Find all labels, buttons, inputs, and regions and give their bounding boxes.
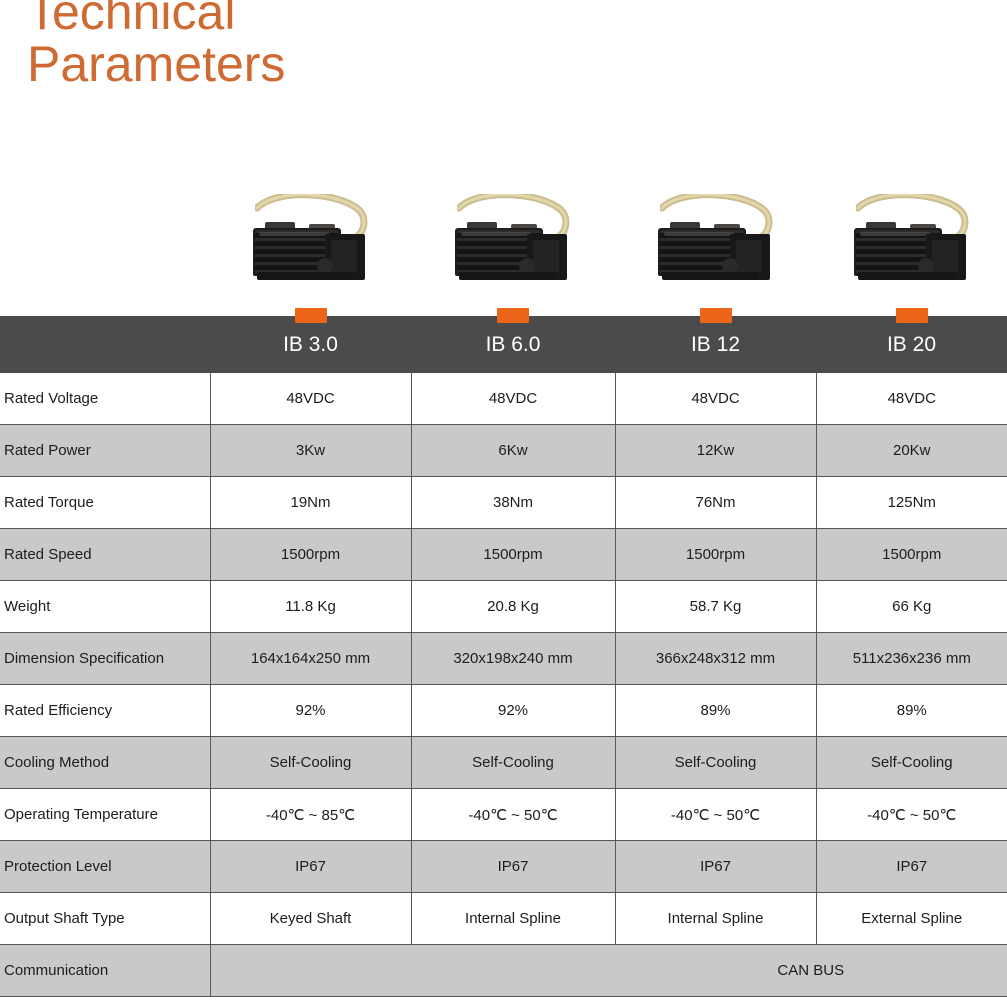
cell-value: 1500rpm xyxy=(411,529,615,581)
cell-value: 48VDC xyxy=(411,373,615,425)
cell-value: Self-Cooling xyxy=(615,737,816,789)
cell-value: 1500rpm xyxy=(615,529,816,581)
column-tab-marker-icon xyxy=(295,308,327,323)
product-image-ib-3-0 xyxy=(210,160,411,300)
table-row: Weight 11.8 Kg 20.8 Kg 58.7 Kg 66 Kg xyxy=(0,581,1007,633)
electric-motor-icon xyxy=(848,194,976,294)
motor-foot xyxy=(662,272,758,280)
cell-value: IP67 xyxy=(210,841,411,893)
cell-value: IP67 xyxy=(411,841,615,893)
table-row: Output Shaft Type Keyed Shaft Internal S… xyxy=(0,893,1007,945)
electric-motor-icon xyxy=(449,194,577,294)
communication-value: CAN BUS xyxy=(212,962,1007,979)
cell-value: Keyed Shaft xyxy=(210,893,411,945)
cell-value: 3Kw xyxy=(210,425,411,477)
cell-value: 20.8 Kg xyxy=(411,581,615,633)
cell-value: Self-Cooling xyxy=(816,737,1007,789)
cell-value: 12Kw xyxy=(615,425,816,477)
column-header-ib-6-0: IB 6.0 xyxy=(411,316,615,373)
column-tab-marker-icon xyxy=(497,308,529,323)
cell-value: 76Nm xyxy=(615,477,816,529)
cell-value: -40℃ ~ 85℃ xyxy=(210,789,411,841)
cell-value: -40℃ ~ 50℃ xyxy=(615,789,816,841)
cell-value: 20Kw xyxy=(816,425,1007,477)
motor-highlight xyxy=(860,232,930,236)
cell-value: Self-Cooling xyxy=(411,737,615,789)
table-header: IB 3.0 IB 6.0 IB 12 IB 20 xyxy=(0,316,1007,373)
product-image-ib-20 xyxy=(816,160,1007,300)
cell-value: 48VDC xyxy=(615,373,816,425)
table-body: Rated Voltage 48VDC 48VDC 48VDC 48VDC Ra… xyxy=(0,373,1007,997)
motor-highlight xyxy=(461,232,531,236)
cell-value: IP67 xyxy=(816,841,1007,893)
cell-value-merged: CAN BUS xyxy=(210,945,1007,997)
cell-value: 19Nm xyxy=(210,477,411,529)
table-row: Rated Voltage 48VDC 48VDC 48VDC 48VDC xyxy=(0,373,1007,425)
cell-value: -40℃ ~ 50℃ xyxy=(816,789,1007,841)
cell-value: 48VDC xyxy=(816,373,1007,425)
table-row: Rated Efficiency 92% 92% 89% 89% xyxy=(0,685,1007,737)
cell-value: 89% xyxy=(816,685,1007,737)
cell-value: 164x164x250 mm xyxy=(210,633,411,685)
cell-value: 11.8 Kg xyxy=(210,581,411,633)
table-corner-cell xyxy=(0,316,210,373)
column-header-label: IB 12 xyxy=(691,333,740,356)
cell-value: 1500rpm xyxy=(816,529,1007,581)
motor-highlight xyxy=(664,232,734,236)
column-header-ib-12: IB 12 xyxy=(615,316,816,373)
table-header-row: IB 3.0 IB 6.0 IB 12 IB 20 xyxy=(0,316,1007,373)
cell-value: 92% xyxy=(210,685,411,737)
page-title: Technical Parameters xyxy=(27,0,587,90)
table-row: Protection Level IP67 IP67 IP67 IP67 xyxy=(0,841,1007,893)
row-label: Operating Temperature xyxy=(0,789,210,841)
motor-gearbox-face xyxy=(331,240,357,272)
product-image-ib-12 xyxy=(615,160,816,300)
motor-gearbox-face xyxy=(533,240,559,272)
cell-value: 38Nm xyxy=(411,477,615,529)
table-row: Rated Power 3Kw 6Kw 12Kw 20Kw xyxy=(0,425,1007,477)
table-row: Rated Speed 1500rpm 1500rpm 1500rpm 1500… xyxy=(0,529,1007,581)
column-header-ib-20: IB 20 xyxy=(816,316,1007,373)
row-label: Cooling Method xyxy=(0,737,210,789)
row-label: Rated Torque xyxy=(0,477,210,529)
motor-foot xyxy=(459,272,555,280)
column-tab-marker-icon xyxy=(700,308,732,323)
table-row: Cooling Method Self-Cooling Self-Cooling… xyxy=(0,737,1007,789)
cell-value: Internal Spline xyxy=(411,893,615,945)
motor-foot xyxy=(257,272,353,280)
table-row: Rated Torque 19Nm 38Nm 76Nm 125Nm xyxy=(0,477,1007,529)
cell-value: 125Nm xyxy=(816,477,1007,529)
motor-gearbox-face xyxy=(736,240,762,272)
table-row: Dimension Specification 164x164x250 mm 3… xyxy=(0,633,1007,685)
row-label: Rated Efficiency xyxy=(0,685,210,737)
cell-value: 320x198x240 mm xyxy=(411,633,615,685)
page-title-line-1: Technical xyxy=(27,0,587,38)
electric-motor-icon xyxy=(652,194,780,294)
electric-motor-icon xyxy=(247,194,375,294)
column-header-label: IB 6.0 xyxy=(486,333,541,356)
page-title-line-2: Parameters xyxy=(27,38,587,90)
cell-value: 66 Kg xyxy=(816,581,1007,633)
cell-value: 6Kw xyxy=(411,425,615,477)
column-header-label: IB 20 xyxy=(887,333,936,356)
product-image-ib-6-0 xyxy=(411,160,615,300)
column-tab-marker-icon xyxy=(896,308,928,323)
cell-value: 92% xyxy=(411,685,615,737)
row-label: Rated Power xyxy=(0,425,210,477)
row-label: Rated Speed xyxy=(0,529,210,581)
table-row: Operating Temperature -40℃ ~ 85℃ -40℃ ~ … xyxy=(0,789,1007,841)
cell-value: 89% xyxy=(615,685,816,737)
motor-foot xyxy=(858,272,954,280)
cell-value: Internal Spline xyxy=(615,893,816,945)
table-row-communication: Communication CAN BUS xyxy=(0,945,1007,997)
cell-value: 366x248x312 mm xyxy=(615,633,816,685)
cell-value: 48VDC xyxy=(210,373,411,425)
motor-highlight xyxy=(259,232,329,236)
cell-value: 1500rpm xyxy=(210,529,411,581)
cell-value: -40℃ ~ 50℃ xyxy=(411,789,615,841)
cell-value: 58.7 Kg xyxy=(615,581,816,633)
row-label: Output Shaft Type xyxy=(0,893,210,945)
cell-value: 511x236x236 mm xyxy=(816,633,1007,685)
product-image-strip xyxy=(210,160,1007,300)
row-label: Weight xyxy=(0,581,210,633)
row-label: Rated Voltage xyxy=(0,373,210,425)
technical-parameters-table: IB 3.0 IB 6.0 IB 12 IB 20 Rated Voltage … xyxy=(0,316,1007,997)
column-header-label: IB 3.0 xyxy=(283,333,338,356)
cell-value: Self-Cooling xyxy=(210,737,411,789)
cell-value: IP67 xyxy=(615,841,816,893)
column-header-ib-3-0: IB 3.0 xyxy=(210,316,411,373)
row-label: Communication xyxy=(0,945,210,997)
row-label: Dimension Specification xyxy=(0,633,210,685)
row-label: Protection Level xyxy=(0,841,210,893)
motor-gearbox-face xyxy=(932,240,958,272)
cell-value: External Spline xyxy=(816,893,1007,945)
